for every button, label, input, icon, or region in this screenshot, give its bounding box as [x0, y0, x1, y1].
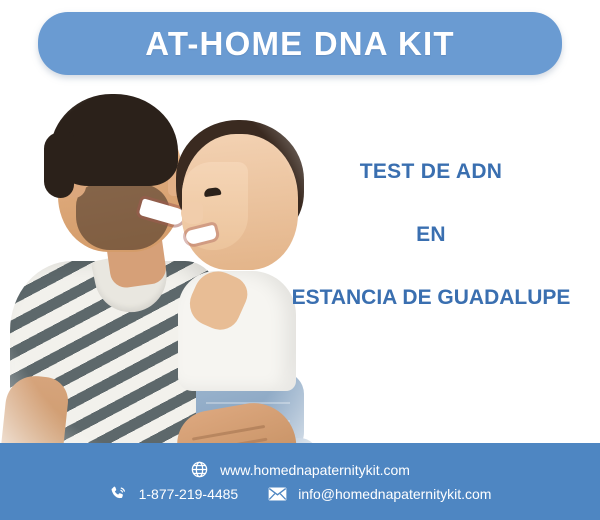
headline-line-3: ESTANCIA DE GUADALUPE [262, 286, 600, 309]
headline-line-2: EN [262, 223, 600, 246]
email-label: info@homednapaternitykit.com [298, 487, 491, 501]
footer-phone[interactable]: 1-877-219-4485 [109, 484, 239, 503]
promotional-poster: AT-HOME DNA KIT TEST DE ADN EN ESTANCIA … [0, 0, 600, 520]
website-label: www.homednapaternitykit.com [220, 463, 410, 477]
man-hair [50, 94, 178, 186]
phone-label: 1-877-219-4485 [139, 487, 239, 501]
footer-row-contacts: 1-877-219-4485 info@homednapaternitykit.… [109, 484, 492, 503]
footer-website[interactable]: www.homednapaternitykit.com [190, 460, 410, 479]
phone-icon [109, 484, 128, 503]
child-nose [181, 202, 203, 224]
headline-line-1: TEST DE ADN [262, 160, 600, 183]
envelope-icon [268, 484, 287, 503]
page-title: AT-HOME DNA KIT [145, 27, 454, 60]
headline-block: TEST DE ADN EN ESTANCIA DE GUADALUPE [262, 160, 600, 309]
globe-icon [190, 460, 209, 479]
header-banner: AT-HOME DNA KIT [38, 12, 562, 75]
footer-contact-bar: www.homednapaternitykit.com 1-877-219-44… [0, 443, 600, 520]
footer-email[interactable]: info@homednapaternitykit.com [268, 484, 491, 503]
footer-row-website: www.homednapaternitykit.com [190, 460, 410, 479]
